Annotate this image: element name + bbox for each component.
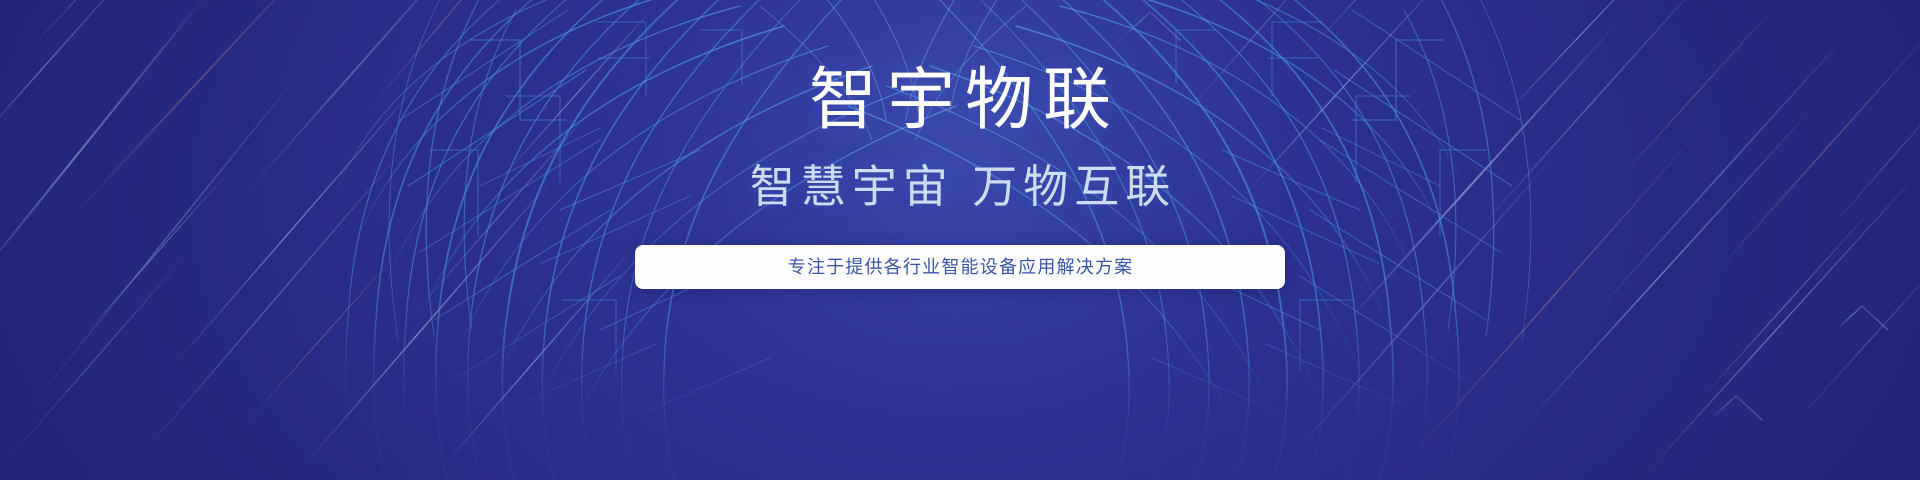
hero-banner: 智宇物联 智慧宇宙 万物互联 专注于提供各行业智能设备应用解决方案 bbox=[0, 0, 1920, 480]
banner-subtitle: 智慧宇宙 万物互联 bbox=[744, 164, 1177, 209]
tagline-pill[interactable]: 专注于提供各行业智能设备应用解决方案 bbox=[635, 245, 1285, 289]
banner-title: 智宇物联 bbox=[799, 66, 1121, 134]
tagline-text: 专注于提供各行业智能设备应用解决方案 bbox=[787, 258, 1134, 276]
banner-content: 智宇物联 智慧宇宙 万物互联 专注于提供各行业智能设备应用解决方案 bbox=[0, 0, 1920, 480]
